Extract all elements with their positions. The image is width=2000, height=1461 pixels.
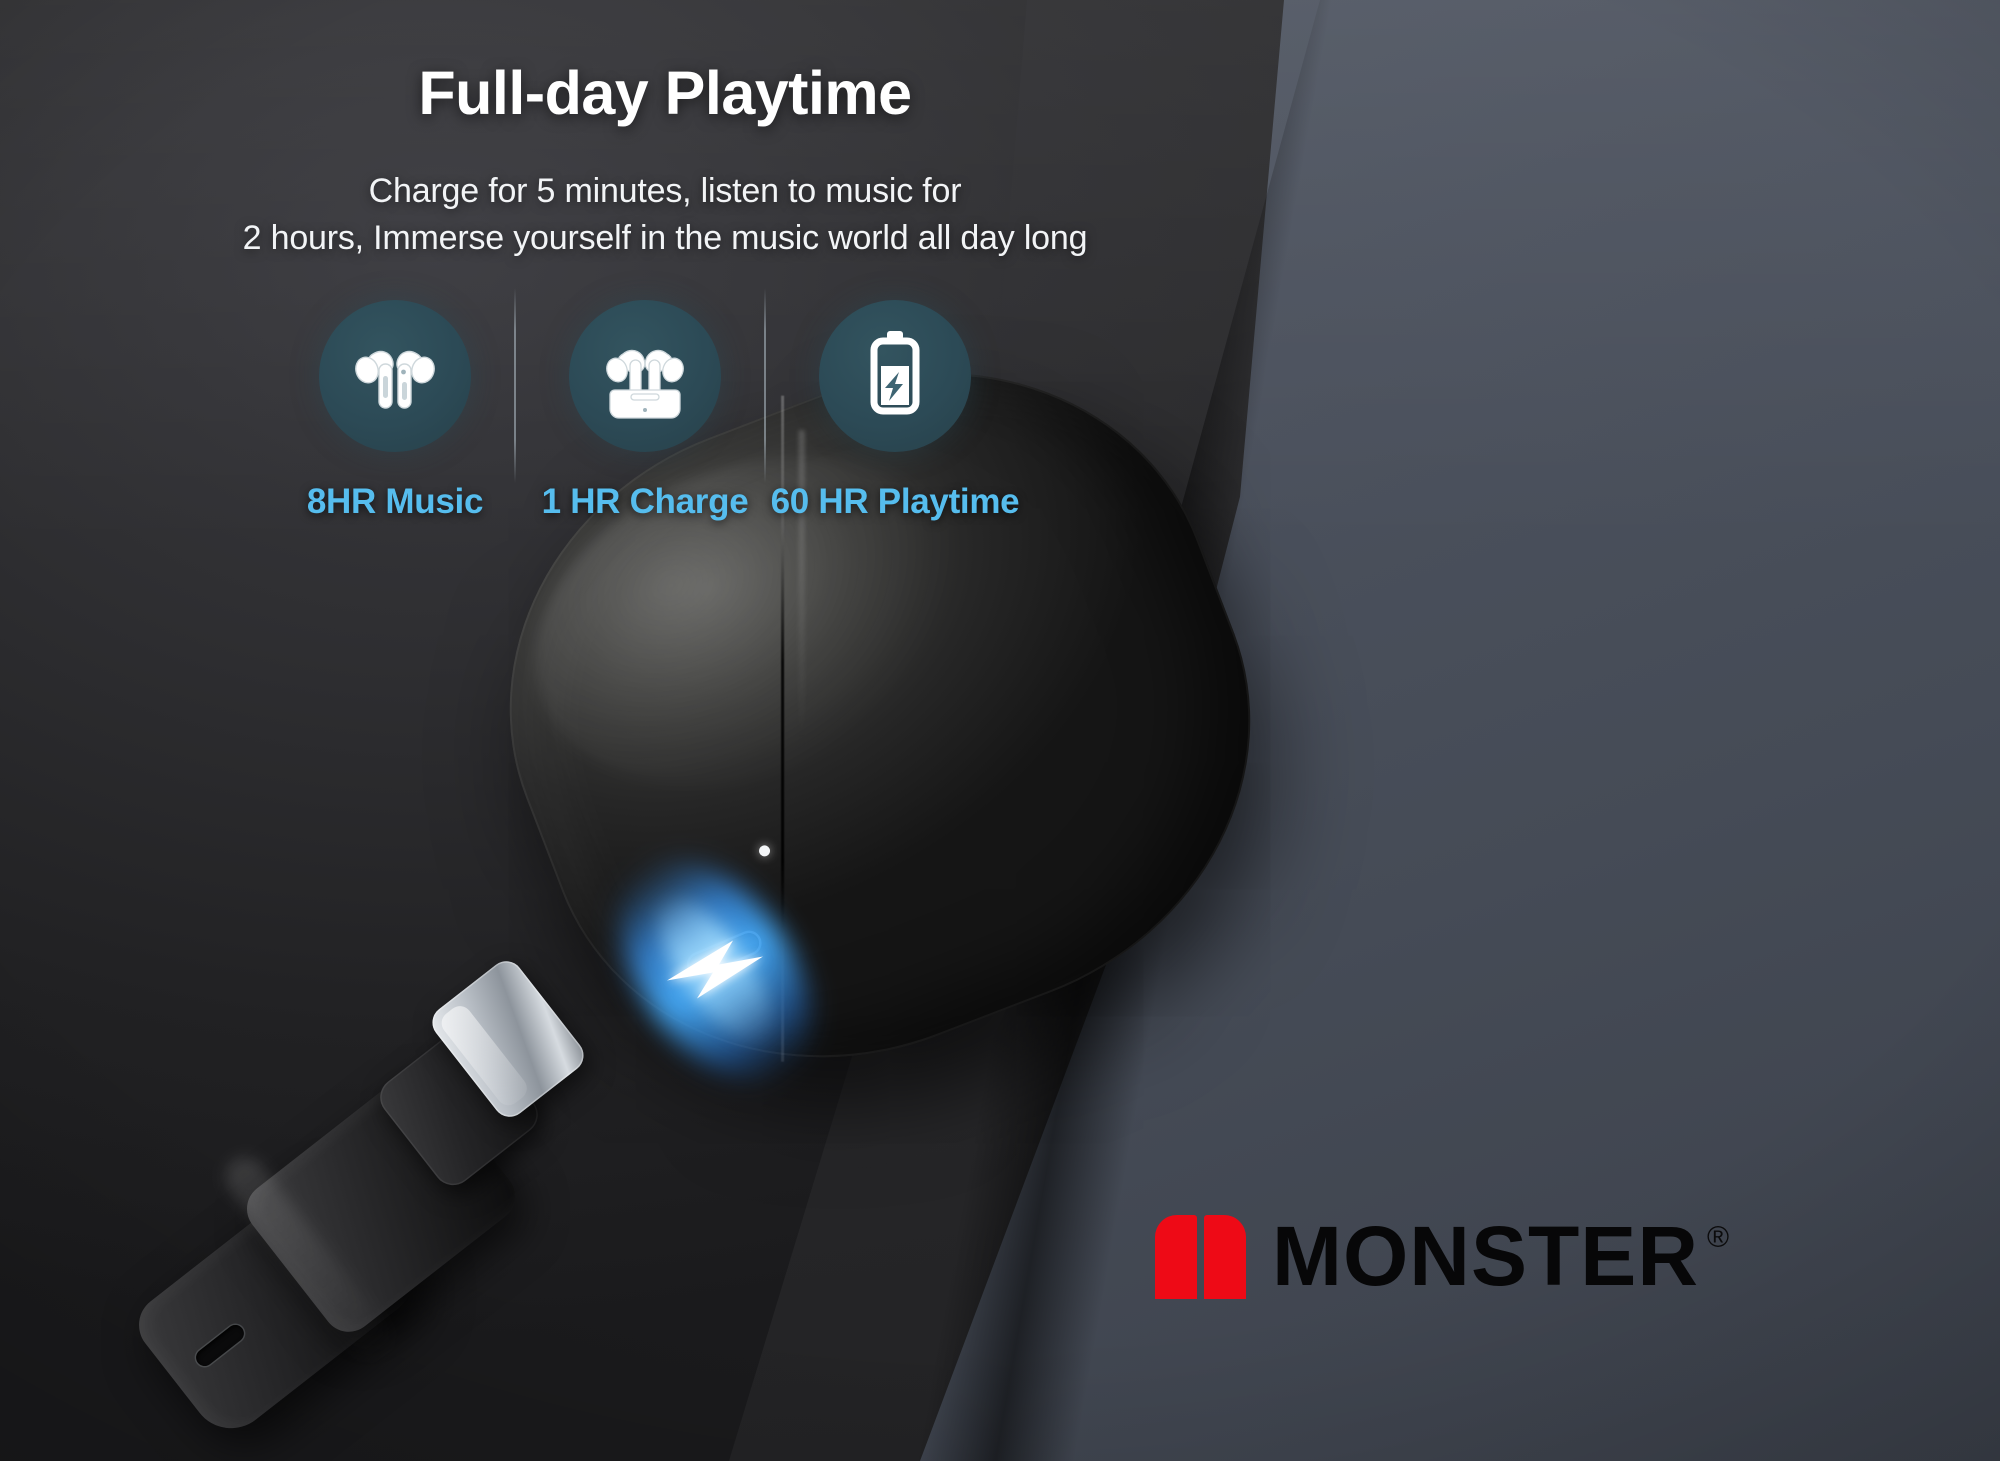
subtitle-line-2: 2 hours, Immerse yourself in the music w… <box>0 215 1330 262</box>
mark-blade-right <box>1204 1215 1246 1299</box>
mark-blade-left <box>1155 1215 1197 1299</box>
subtitle-line-1: Charge for 5 minutes, listen to music fo… <box>0 168 1330 215</box>
feature-label: 1 HR Charge <box>542 482 749 522</box>
feature-1hr-charge: 1 HR Charge <box>520 300 770 522</box>
earbuds-icon <box>319 300 471 452</box>
monster-m-mark-icon <box>1155 1215 1246 1299</box>
feature-60hr-playtime: 60 HR Playtime <box>770 300 1020 522</box>
usb-c-charging-cable <box>170 965 690 1435</box>
feature-row: 8HR Music <box>270 300 1020 522</box>
feature-label: 8HR Music <box>307 482 483 522</box>
brand-logo: MONSTER ® <box>1155 1215 1729 1299</box>
product-marketing-image: Full-day Playtime Charge for 5 minutes, … <box>0 0 2000 1461</box>
brand-wordmark: MONSTER <box>1272 1217 1699 1297</box>
charging-case-icon <box>569 300 721 452</box>
battery-charging-icon <box>819 300 971 452</box>
registered-trademark-symbol: ® <box>1707 1221 1729 1255</box>
feature-label: 60 HR Playtime <box>771 482 1020 522</box>
headline: Full-day Playtime <box>0 58 1330 128</box>
subtitle: Charge for 5 minutes, listen to music fo… <box>0 168 1330 262</box>
feature-8hr-music: 8HR Music <box>270 300 520 522</box>
